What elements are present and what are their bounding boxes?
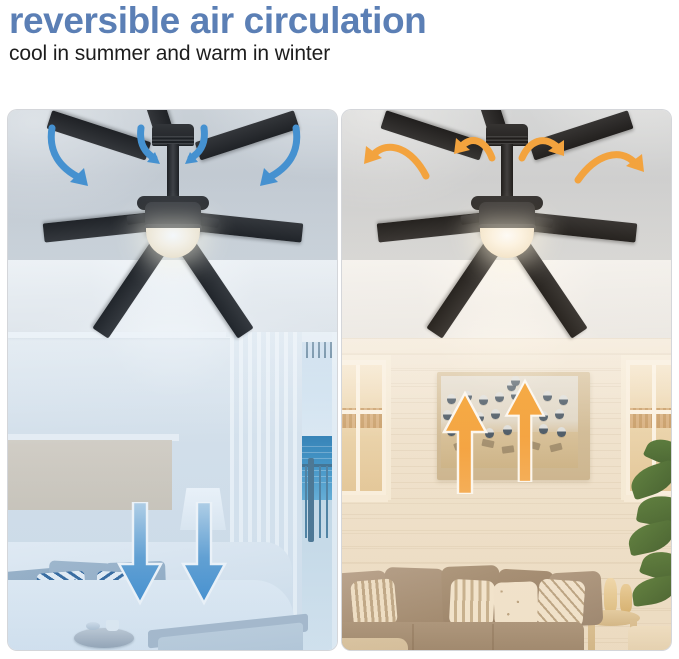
balcony-rail-post (308, 458, 314, 542)
throw-pillow (449, 579, 495, 627)
page-title: reversible air circulation (9, 1, 426, 41)
tray-glass (86, 622, 100, 630)
throw-pillow (493, 581, 539, 627)
window-left-view (342, 365, 382, 491)
downdraft-arrow-icon (117, 502, 163, 606)
scene-bedroom (8, 110, 337, 650)
sofa-seat-divider (412, 624, 414, 650)
bed-tray (74, 628, 134, 648)
throw-pillow (350, 578, 398, 628)
panel-updraft[interactable]: Updraft Mode (342, 110, 671, 650)
sofa-chaise (342, 638, 408, 650)
plant-pot (628, 626, 671, 650)
window-sill (342, 495, 388, 502)
door-mullion-right (332, 332, 337, 650)
tray-cup (106, 620, 119, 631)
page-subtitle: cool in summer and warm in winter (9, 41, 330, 67)
window-mullion (630, 410, 671, 414)
decor-vase (604, 578, 617, 612)
headboard-panel (8, 440, 172, 510)
downdraft-arrow-icon (181, 502, 227, 606)
window-mullion (356, 365, 360, 491)
scene-living-room (342, 110, 671, 650)
sofa-seat-divider (492, 624, 494, 650)
throw-pillow (536, 578, 585, 627)
window-mullion (342, 410, 382, 414)
header: reversible air circulation cool in summe… (0, 0, 679, 100)
updraft-arrow-icon (502, 378, 548, 482)
decor-vase (620, 584, 632, 612)
updraft-arrow-icon (442, 390, 488, 494)
panel-downdraft[interactable]: Downdraft Mode (8, 110, 337, 650)
